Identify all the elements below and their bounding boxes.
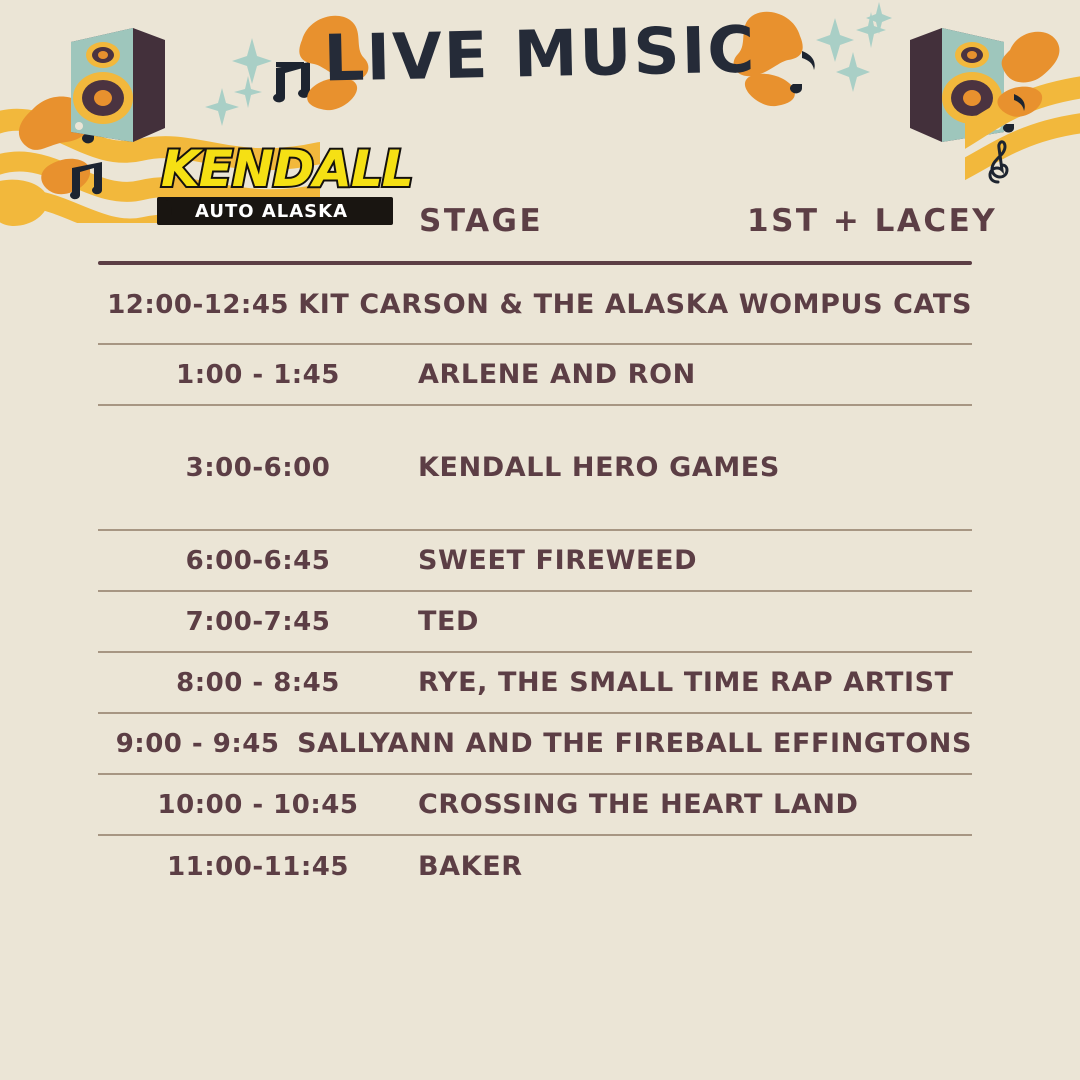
header-divider <box>98 261 972 265</box>
table-row: 11:00-11:45 BAKER <box>98 836 972 897</box>
eighth-note-icon-right <box>1000 92 1028 134</box>
row-time: 9:00 - 9:45 <box>98 729 297 759</box>
row-artist: TED <box>418 606 972 637</box>
treble-clef-icon-right <box>985 140 1011 186</box>
row-time: 6:00-6:45 <box>98 546 418 576</box>
schedule-table: 12:00-12:45 KIT CARSON & THE ALASKA WOMP… <box>98 266 972 897</box>
row-artist: CROSSING THE HEART LAND <box>418 789 972 820</box>
table-row: 6:00-6:45 SWEET FIREWEED <box>98 531 972 592</box>
kendall-auto-alaska-logo: KENDALL AUTO ALASKA <box>157 143 393 225</box>
row-artist: KIT CARSON & THE ALASKA WOMPUS CATS <box>298 289 972 320</box>
logo-bar: AUTO ALASKA <box>157 197 393 225</box>
logo-wordmark: KENDALL <box>161 143 393 195</box>
row-time: 1:00 - 1:45 <box>98 360 418 390</box>
row-artist: BAKER <box>418 851 972 882</box>
table-row: 1:00 - 1:45 ARLENE AND RON <box>98 345 972 406</box>
row-time: 7:00-7:45 <box>98 607 418 637</box>
logo-notch-icon <box>159 200 172 222</box>
logo-subtitle: AUTO ALASKA <box>195 201 348 222</box>
blob-shape-bottom-left <box>0 176 64 232</box>
row-time: 3:00-6:00 <box>98 453 418 483</box>
row-time: 11:00-11:45 <box>98 852 418 882</box>
column-header-stage: STAGE <box>419 203 543 239</box>
row-time: 8:00 - 8:45 <box>98 668 418 698</box>
table-row: 8:00 - 8:45 RYE, THE SMALL TIME RAP ARTI… <box>98 653 972 714</box>
table-row: 7:00-7:45 TED <box>98 592 972 653</box>
beamed-notes-icon-left <box>62 160 104 204</box>
row-artist: SWEET FIREWEED <box>418 545 972 576</box>
eighth-note-icon-left <box>77 100 111 144</box>
column-header-venue: 1ST + LACEY <box>747 203 997 239</box>
row-artist: KENDALL HERO GAMES <box>418 452 972 483</box>
row-artist: ARLENE AND RON <box>418 359 972 390</box>
row-time: 10:00 - 10:45 <box>98 790 418 820</box>
table-row: 10:00 - 10:45 CROSSING THE HEART LAND <box>98 775 972 836</box>
table-row: 12:00-12:45 KIT CARSON & THE ALASKA WOMP… <box>98 266 972 345</box>
row-artist: RYE, THE SMALL TIME RAP ARTIST <box>418 667 972 698</box>
row-artist: SALLYANN AND THE FIREBALL EFFINGTONS <box>297 728 972 759</box>
sound-wave-icon-right <box>965 76 1080 196</box>
live-music-schedule-poster: LIVE MUSIC KENDALL AUTO ALASKA STAGE 1ST… <box>0 0 1080 1080</box>
table-row: 3:00-6:00 KENDALL HERO GAMES <box>98 406 972 531</box>
table-row: 9:00 - 9:45 SALLYANN AND THE FIREBALL EF… <box>98 714 972 775</box>
row-time: 12:00-12:45 <box>98 290 298 320</box>
